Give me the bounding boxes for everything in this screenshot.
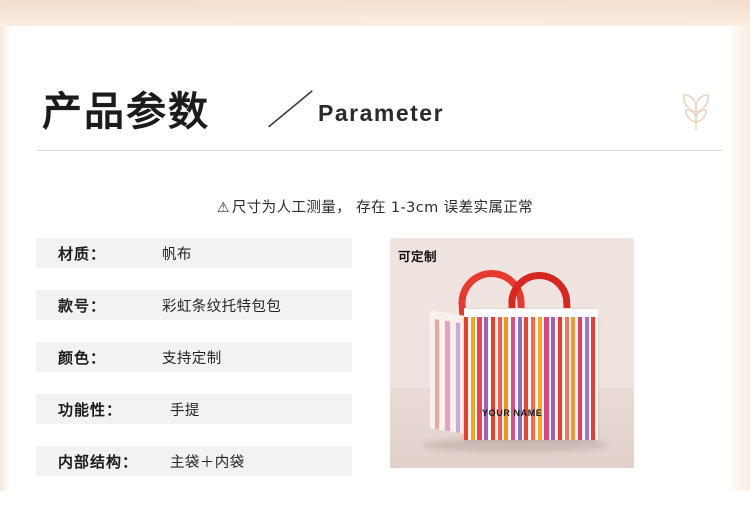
title-divider-slash: ／ [265,86,316,136]
customizable-badge: 可定制 [398,246,437,265]
bag-front-top-edge [464,308,598,317]
measurement-notice-text: 尺寸为人工测量， 存在 1-3cm 误差实属正常 [232,200,533,216]
top-decorative-band [0,0,750,26]
bag-stripe [585,314,589,440]
table-row: 材质： 帆布 [36,238,352,268]
bag-stripe [471,314,475,440]
spec-table: 材质： 帆布 款号： 彩虹条纹托特包包 颜色： 支持定制 功能性： 手提 内部结… [36,238,352,476]
bag-stripe [511,314,515,440]
product-photo: 可定制 YOUR NAME [390,238,634,468]
table-row: 颜色： 支持定制 [36,342,352,372]
spec-value: 支持定制 [162,347,352,368]
left-edge-gradient [0,26,10,531]
page-title-row: 产品参数 ／ Parameter [42,88,722,144]
spec-value: 彩虹条纹托特包包 [162,295,352,316]
page-title-en: Parameter [318,98,444,128]
spec-value: 帆布 [162,243,352,264]
bag-side-stripe [430,316,434,429]
spec-value: 手提 [170,399,352,420]
spec-key: 颜色： [36,347,162,368]
page-title-cn: 产品参数 [42,88,210,136]
bag-stripe [578,314,582,440]
tote-bag-illustration: YOUR NAME [412,256,612,456]
bag-side-stripe [451,320,455,433]
bag-stripe [544,314,548,440]
bag-stripe [477,314,481,440]
bag-stripe [551,314,555,440]
bag-stripe [518,314,522,440]
bag-stripe [531,314,535,440]
warning-icon: ⚠ [217,200,230,216]
product-parameter-page: 产品参数 ／ Parameter ⚠尺寸为人工测量， 存在 1-3cm 误差实属… [0,0,750,531]
title-underline-rule [36,150,722,151]
leaf-icon [670,86,722,138]
bag-stripe [464,314,468,440]
bag-side-stripe [435,317,439,430]
bag-stripe [558,314,562,440]
bag-side-stripe [440,318,444,431]
spec-key: 材质： [36,243,162,264]
spec-key: 功能性： [36,399,170,420]
bag-side-panel [430,316,466,434]
spec-key: 内部结构： [36,451,170,472]
bag-side-stripe [445,319,449,432]
bag-stripe [591,314,595,440]
bag-stripe [538,314,542,440]
bag-shadow [422,438,608,452]
spec-key: 款号： [36,295,162,316]
bottom-whitespace [0,491,750,531]
table-row: 内部结构： 主袋＋内袋 [36,446,352,476]
bag-stripe [484,314,488,440]
right-edge-gradient [728,26,750,531]
bag-stripe [565,314,569,440]
bag-front-panel [464,314,598,440]
bag-stripe [491,314,495,440]
top-band-gradient [0,0,750,26]
table-row: 功能性： 手提 [36,394,352,424]
bag-stripe [498,314,502,440]
bag-custom-text: YOUR NAME [482,408,542,418]
bag-body: YOUR NAME [430,308,598,440]
bag-side-stripe [456,320,460,433]
spec-value: 主袋＋内袋 [170,451,352,472]
measurement-notice: ⚠尺寸为人工测量， 存在 1-3cm 误差实属正常 [0,196,750,217]
bag-stripe [524,314,528,440]
table-row: 款号： 彩虹条纹托特包包 [36,290,352,320]
bag-stripe [504,314,508,440]
bag-stripe [571,314,575,440]
